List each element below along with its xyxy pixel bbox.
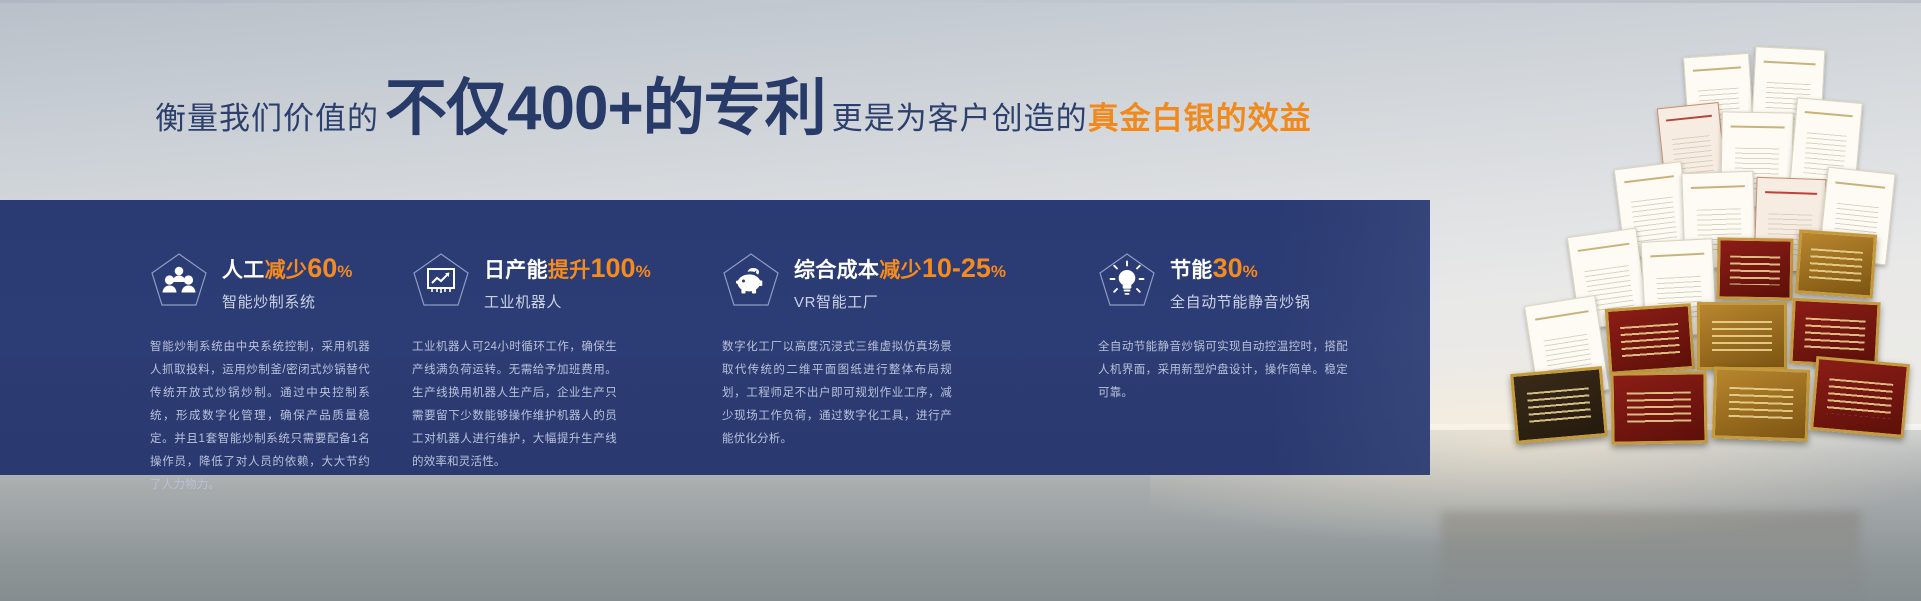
award-plaque [1810, 356, 1910, 438]
feature-header: 人工减少60% 智能炒制系统 [150, 250, 340, 312]
feature-heading: 综合成本减少10-25% VR智能工厂 [794, 250, 1006, 312]
feature-body: 全自动节能静音炒锅可实现自动控温控时，搭配人机界面，采用新型炉盘设计，操作简单。… [1098, 336, 1348, 405]
people-group-icon [150, 252, 208, 308]
award-plaque [1605, 303, 1695, 375]
stat-number: 60 [307, 253, 337, 283]
award-plaque [1697, 302, 1787, 370]
stat-accent: 提升 [548, 259, 591, 282]
stat-unit: % [1243, 262, 1258, 281]
headline-lead: 衡量我们价值的 [155, 93, 379, 138]
stat-unit: % [991, 262, 1006, 281]
feature-item-1: 人工减少60% 智能炒制系统 智能炒制系统由中央系统控制，采用机器人抓取投料，运… [0, 200, 340, 475]
award-plaque [1712, 366, 1810, 441]
award-plaque [1610, 371, 1707, 445]
feature-heading: 人工减少60% 智能炒制系统 [222, 250, 353, 312]
feature-header: 日产能提升100% 工业机器人 [412, 250, 660, 312]
stat-accent: 减少 [265, 259, 308, 282]
feature-stat: 节能30% [1170, 259, 1258, 282]
feature-item-4: 节能30% 全自动节能静音炒锅 全自动节能静音炒锅可实现自动控温控时，搭配人机界… [1030, 200, 1430, 475]
piggy-bank-icon [722, 252, 780, 308]
feature-item-3: 综合成本减少10-25% VR智能工厂 数字化工厂以高度沉浸式三维虚拟仿真场景取… [660, 200, 1030, 475]
stat-unit: % [636, 262, 651, 281]
feature-header: 节能30% 全自动节能静音炒锅 [1098, 250, 1430, 312]
feature-columns: 人工减少60% 智能炒制系统 智能炒制系统由中央系统控制，采用机器人抓取投料，运… [0, 200, 1430, 475]
stat-prefix: 日产能 [484, 259, 548, 282]
feature-stat: 日产能提升100% [484, 259, 651, 282]
feature-body: 数字化工厂以高度沉浸式三维虚拟仿真场景取代传统的二维平面图纸进行整体布局规划，工… [722, 336, 952, 451]
feature-subtitle: VR智能工厂 [794, 291, 1006, 312]
feature-subtitle: 智能炒制系统 [222, 291, 353, 312]
stat-prefix: 综合成本 [794, 259, 879, 282]
growth-chart-icon [412, 252, 470, 308]
stat-accent: 减少 [879, 259, 922, 282]
feature-stat: 人工减少60% [222, 259, 353, 282]
feature-body: 工业机器人可24小时循环工作，确保生产线满负荷运转。无需给予加班费用。生产线换用… [412, 336, 617, 474]
award-plaque [1716, 237, 1793, 300]
feature-heading: 节能30% 全自动节能静音炒锅 [1170, 250, 1310, 312]
feature-subtitle: 工业机器人 [484, 291, 651, 312]
headline-middle: 更是为客户创造的 [832, 93, 1088, 138]
feature-item-2: 日产能提升100% 工业机器人 工业机器人可24小时循环工作，确保生产线满负荷运… [340, 200, 660, 475]
lightbulb-icon [1098, 252, 1156, 308]
feature-subtitle: 全自动节能静音炒锅 [1170, 291, 1310, 312]
headline-highlight: 真金白银的效益 [1088, 93, 1312, 138]
certificate-wall [1361, 0, 1921, 601]
feature-stat: 综合成本减少10-25% [794, 259, 1006, 282]
stat-prefix: 人工 [222, 259, 265, 282]
page-title: 衡量我们价值的 不仅400+的专利 更是为客户创造的 真金白银的效益 [155, 78, 1312, 148]
plaque-reflection [1441, 511, 1861, 601]
headline-emphasis: 不仅400+的专利 [379, 78, 832, 140]
award-plaque [1510, 366, 1608, 444]
feature-panel: 人工减少60% 智能炒制系统 智能炒制系统由中央系统控制，采用机器人抓取投料，运… [0, 200, 1430, 475]
award-plaque [1795, 229, 1877, 298]
feature-body: 智能炒制系统由中央系统控制，采用机器人抓取投料，运用炒制釜/密闭式炒锅替代传统开… [150, 336, 370, 497]
banner-stage: 衡量我们价值的 不仅400+的专利 更是为客户创造的 真金白银的效益 [0, 0, 1921, 601]
feature-heading: 日产能提升100% 工业机器人 [484, 250, 651, 312]
stat-prefix: 节能 [1170, 259, 1213, 282]
feature-header: 综合成本减少10-25% VR智能工厂 [722, 250, 1030, 312]
stat-number: 100 [591, 253, 636, 283]
stat-number: 30 [1213, 253, 1243, 283]
stat-number: 10-25 [922, 253, 991, 283]
